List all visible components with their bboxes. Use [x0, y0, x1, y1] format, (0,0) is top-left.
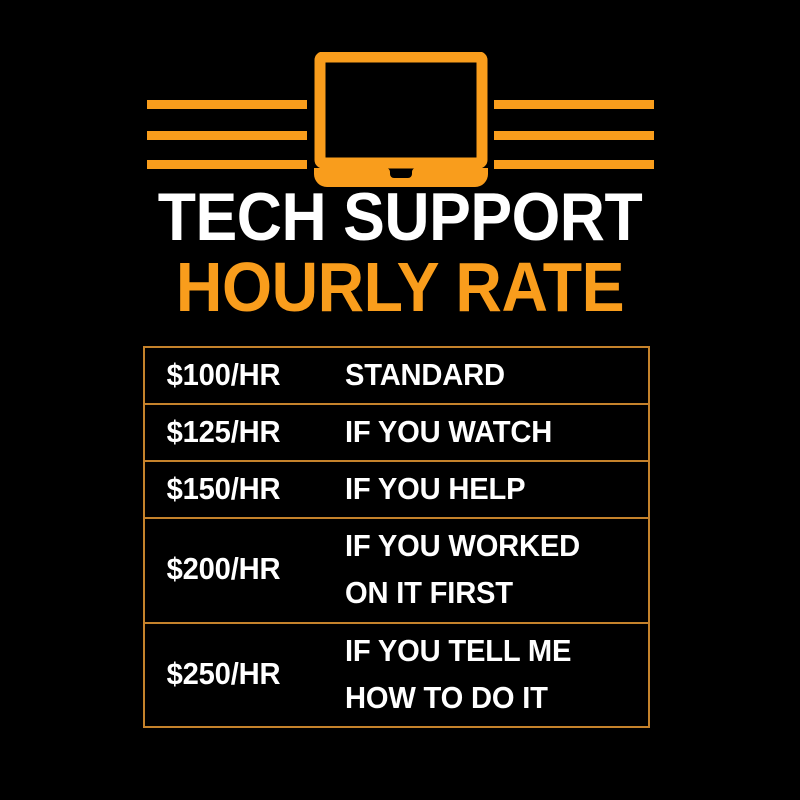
- rule-line-icon: [494, 160, 654, 169]
- table-row: $250/HR IF YOU TELL ME HOW TO DO IT: [145, 624, 648, 728]
- rate-description-line: IF YOU HELP: [345, 465, 630, 512]
- rate-price: $100/HR: [145, 358, 333, 392]
- rate-price: $250/HR: [145, 657, 333, 691]
- rule-line-icon: [494, 100, 654, 109]
- rate-description-line: HOW TO DO IT: [345, 674, 630, 721]
- rate-description-line: IF YOU WATCH: [345, 408, 630, 455]
- table-row: $100/HR STANDARD: [145, 348, 648, 405]
- rule-line-icon: [147, 160, 307, 169]
- laptop-icon: [312, 52, 490, 187]
- headline-block: TECH SUPPORT HOURLY RATE: [0, 186, 800, 319]
- rate-description-line: ON IT FIRST: [345, 569, 630, 616]
- rate-description: IF YOU HELP: [345, 465, 630, 512]
- rate-description-line: IF YOU TELL ME: [345, 627, 630, 674]
- rule-line-icon: [147, 100, 307, 109]
- table-row: $150/HR IF YOU HELP: [145, 462, 648, 519]
- table-row: $125/HR IF YOU WATCH: [145, 405, 648, 462]
- rate-description: IF YOU WORKED ON IT FIRST: [345, 522, 630, 616]
- rate-price: $125/HR: [145, 415, 333, 449]
- rule-line-icon: [494, 131, 654, 140]
- table-row: $200/HR IF YOU WORKED ON IT FIRST: [145, 519, 648, 623]
- rate-description: STANDARD: [345, 351, 630, 398]
- rate-description-line: IF YOU WORKED: [345, 522, 630, 569]
- rate-description: IF YOU WATCH: [345, 408, 630, 455]
- headline-primary: TECH SUPPORT: [32, 186, 768, 249]
- rate-description-line: STANDARD: [345, 351, 630, 398]
- rate-price: $150/HR: [145, 472, 333, 506]
- rule-line-icon: [147, 131, 307, 140]
- rate-description: IF YOU TELL ME HOW TO DO IT: [345, 627, 630, 721]
- emblem-band: [0, 52, 800, 187]
- headline-secondary: HOURLY RATE: [32, 255, 768, 319]
- poster-canvas: TECH SUPPORT HOURLY RATE $100/HR STANDAR…: [0, 0, 800, 800]
- rate-price: $200/HR: [145, 552, 333, 586]
- right-rule-group: [494, 52, 654, 187]
- left-rule-group: [147, 52, 307, 187]
- rate-table: $100/HR STANDARD $125/HR IF YOU WATCH $1…: [143, 346, 650, 728]
